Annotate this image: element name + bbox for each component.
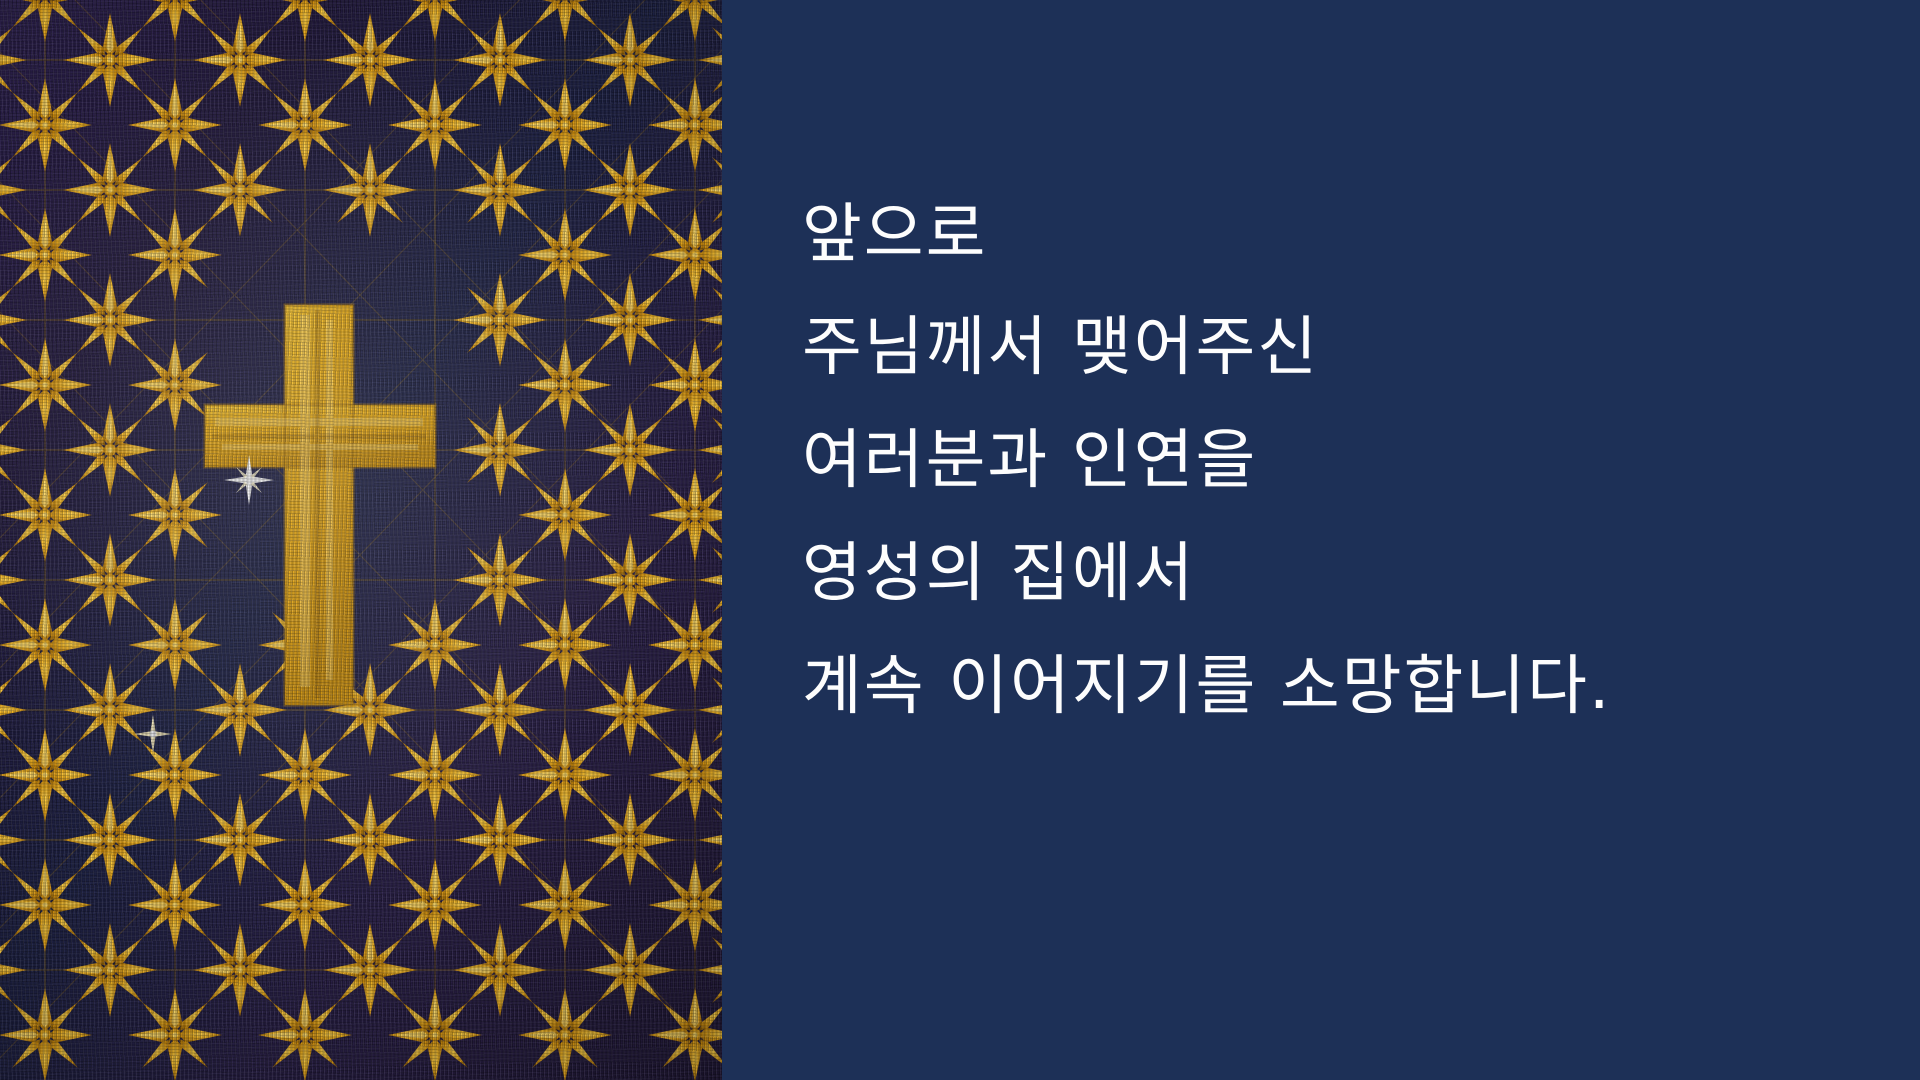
verse-line-1: 앞으로 bbox=[802, 178, 1902, 291]
mosaic-image-panel bbox=[0, 0, 722, 1080]
verse-line-2: 주님께서 맺어주신 bbox=[802, 291, 1902, 404]
verse-line-4: 영성의 집에서 bbox=[802, 517, 1902, 630]
verse-line-3: 여러분과 인연을 bbox=[802, 404, 1902, 517]
verse-block: 앞으로 주님께서 맺어주신 여러분과 인연을 영성의 집에서 계속 이어지기를 … bbox=[802, 178, 1902, 743]
slide-root: 앞으로 주님께서 맺어주신 여러분과 인연을 영성의 집에서 계속 이어지기를 … bbox=[0, 0, 1920, 1080]
mosaic-cross-image bbox=[0, 0, 722, 1080]
verse-text-panel: 앞으로 주님께서 맺어주신 여러분과 인연을 영성의 집에서 계속 이어지기를 … bbox=[722, 0, 1920, 1080]
verse-line-5: 계속 이어지기를 소망합니다. bbox=[802, 630, 1902, 743]
